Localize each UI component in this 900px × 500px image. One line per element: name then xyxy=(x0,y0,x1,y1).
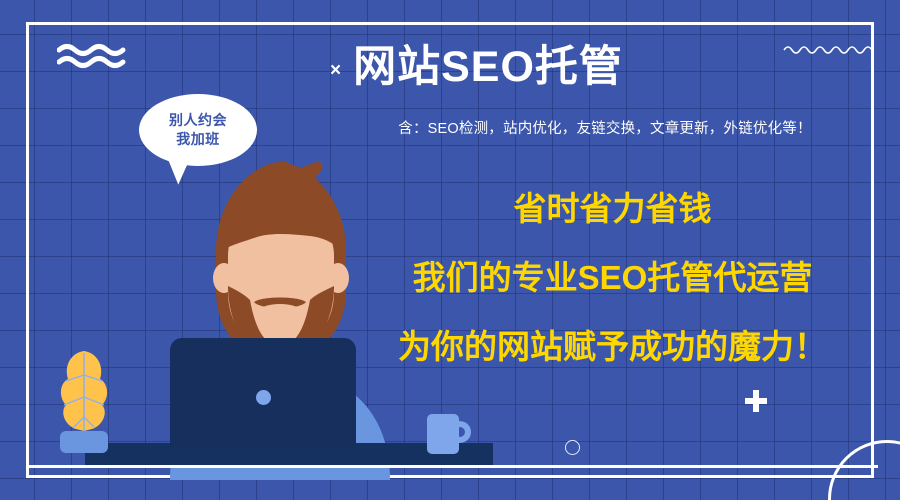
slogan-line-2: 我们的专业SEO托管代运营 xyxy=(355,261,870,294)
page-title: 网站SEO托管 xyxy=(353,44,623,90)
seo-promo-banner: 别人约会 我加班 × 网站SEO托管 含：SEO检测，站内优化，友链交换，文章更… xyxy=(0,0,900,500)
title-row: × 网站SEO托管 xyxy=(330,44,870,90)
speech-bubble-line-2: 我加班 xyxy=(176,130,220,149)
x-mark-icon: × xyxy=(330,61,341,80)
slogan-line-3: 为你的网站赋予成功的魔力！ xyxy=(355,330,870,363)
plus-icon xyxy=(745,390,767,412)
desk-edge-line xyxy=(26,465,878,468)
speech-bubble: 别人约会 我加班 xyxy=(139,94,257,166)
page-subtitle: 含：SEO检测，站内优化，友链交换，文章更新，外链优化等！ xyxy=(330,117,880,138)
wavy-lines-icon xyxy=(57,43,127,69)
plant-illustration xyxy=(48,345,120,453)
coffee-mug-illustration xyxy=(425,408,475,456)
speech-bubble-line-1: 别人约会 xyxy=(169,111,227,130)
slogan-list: 省时省力省钱 我们的专业SEO托管代运营 为你的网站赋予成功的魔力！ xyxy=(355,192,870,363)
laptop-logo-icon xyxy=(256,390,271,405)
slogan-line-1: 省时省力省钱 xyxy=(355,192,870,225)
laptop-illustration xyxy=(170,338,356,448)
circle-outline-icon xyxy=(565,440,580,455)
